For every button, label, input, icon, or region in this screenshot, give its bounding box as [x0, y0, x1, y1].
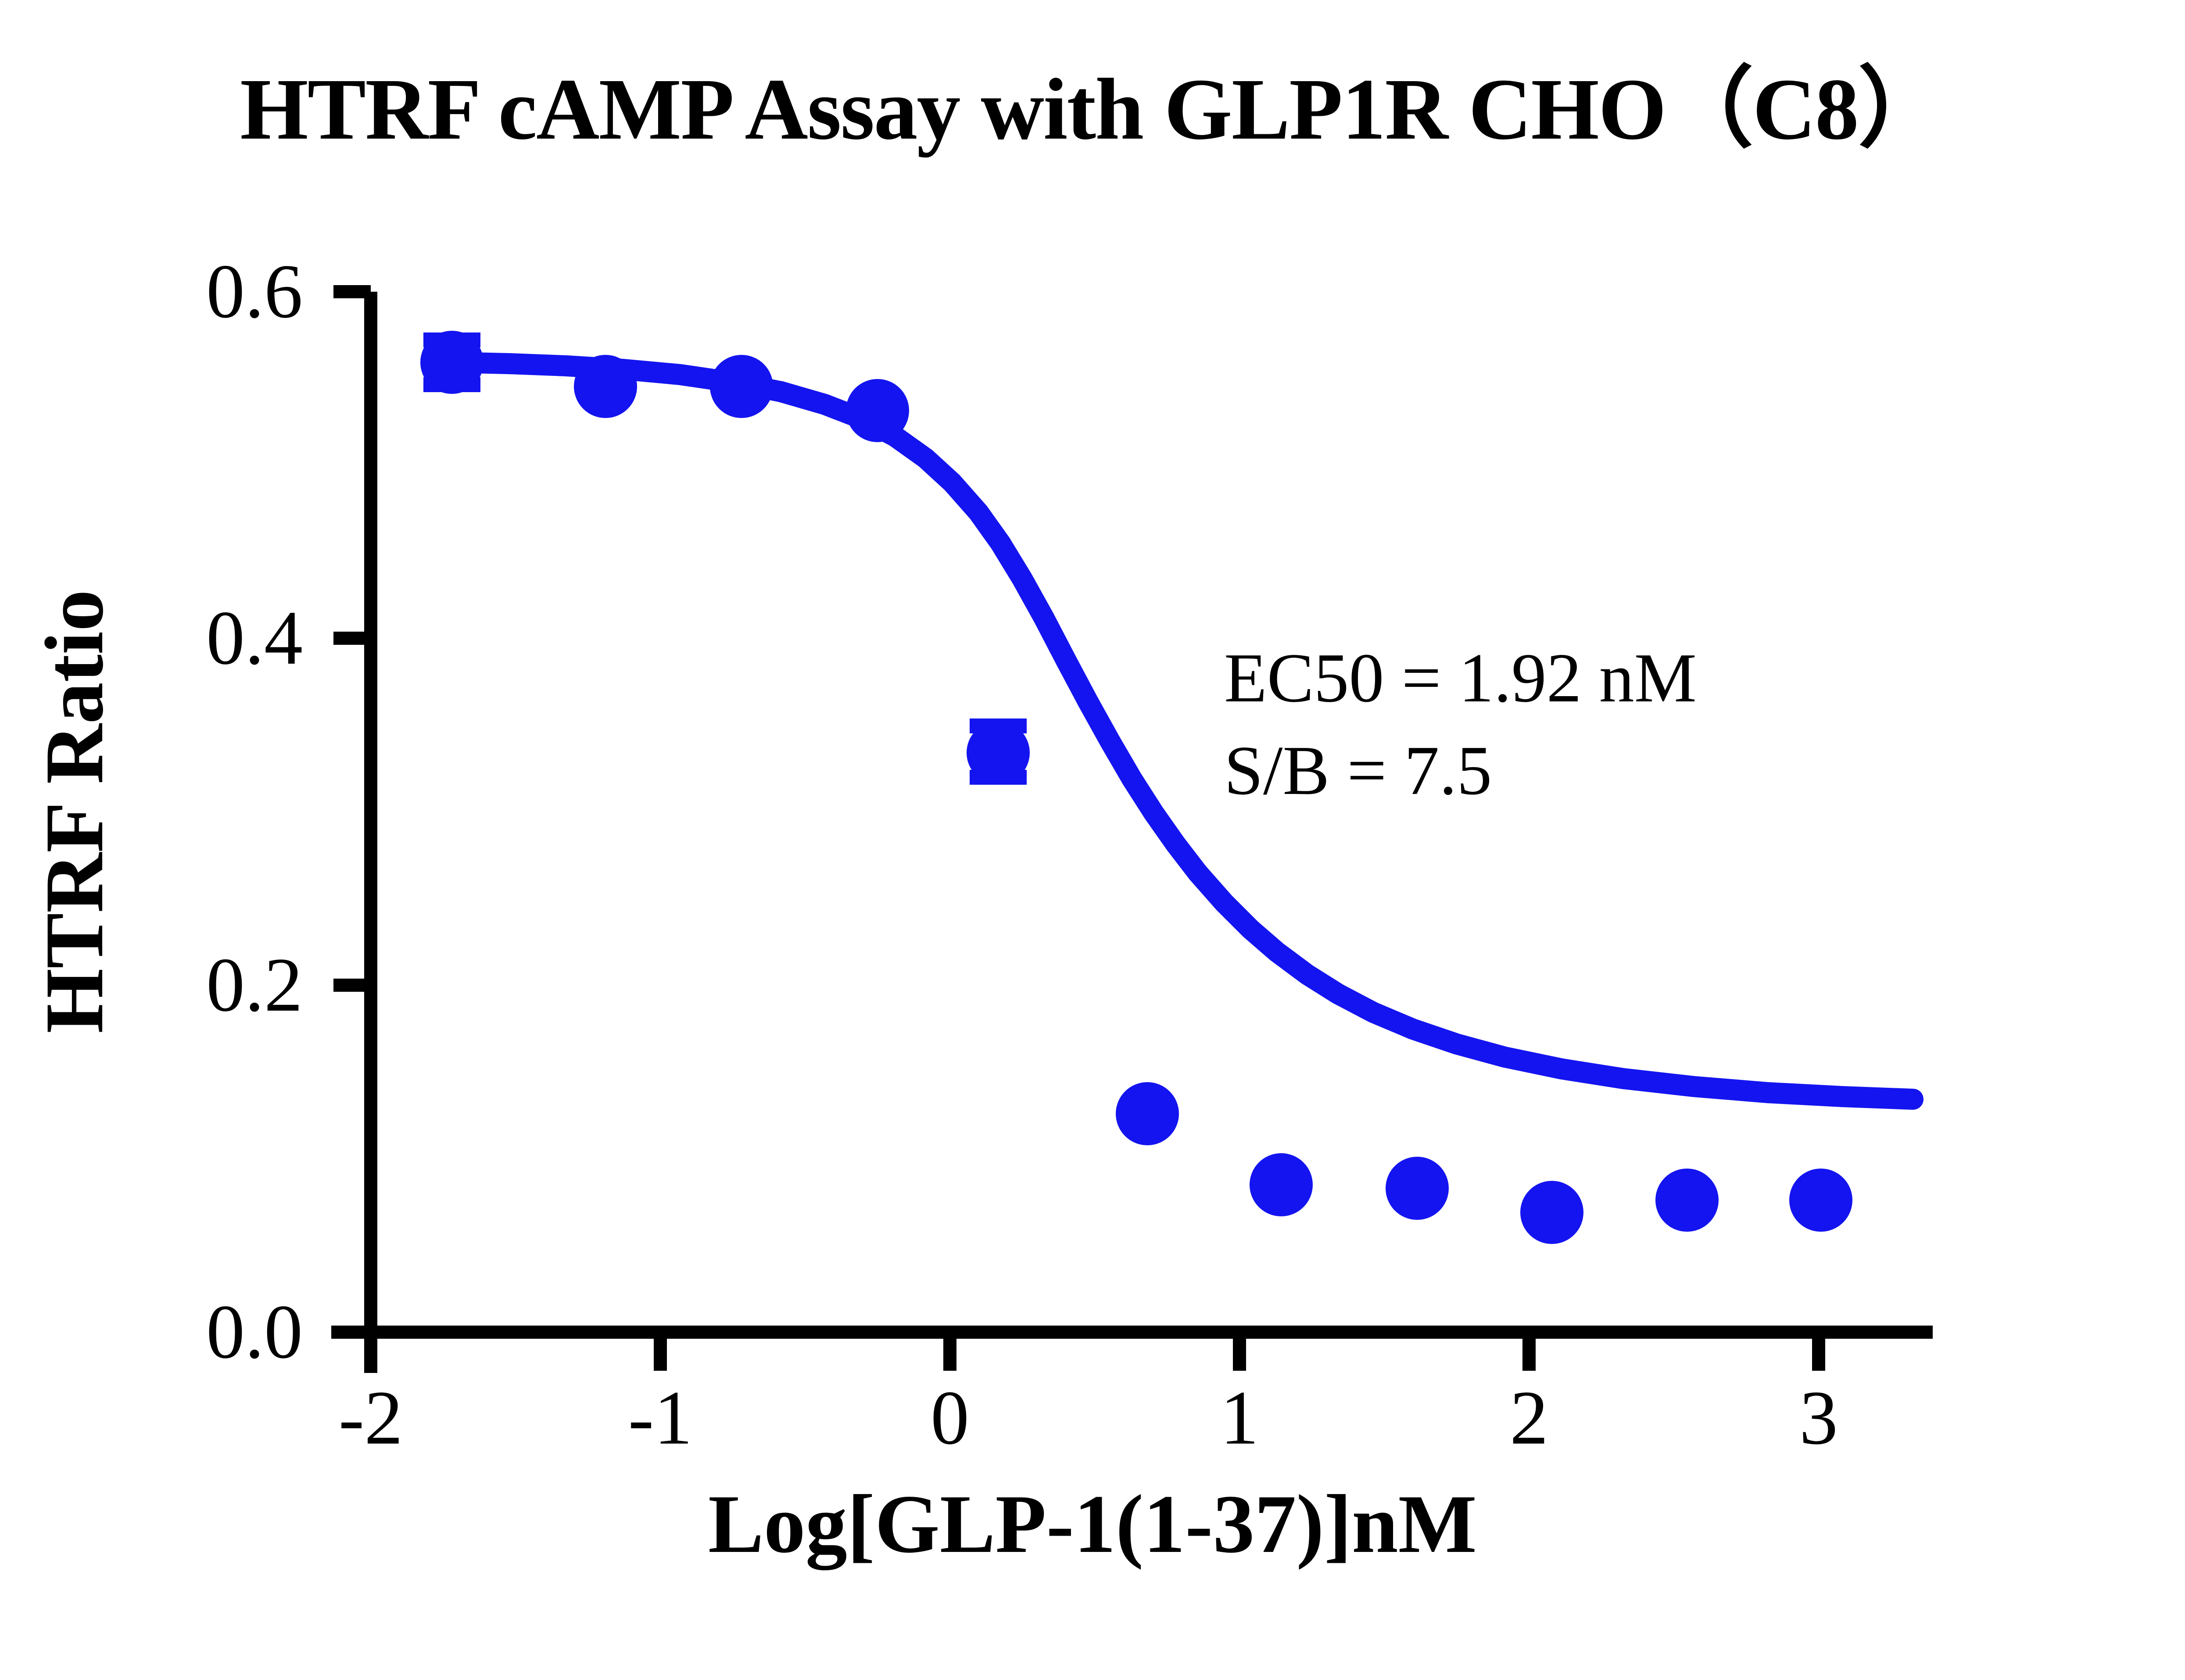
- data-point: [1250, 1153, 1313, 1216]
- x-tick-label-4: 2: [1510, 1380, 1548, 1457]
- ec50-annotation: EC50 = 1.92 nM: [1224, 632, 1697, 724]
- sb-annotation: S/B = 7.5: [1224, 724, 1697, 817]
- chart-figure: HTRF cAMP Assay with GLP1R CHO（C8）: [0, 0, 2185, 1680]
- data-point: [1386, 1157, 1449, 1220]
- y-tick-label-1: 0.4: [114, 600, 303, 677]
- x-axis-title: Log[GLP-1(1-37)]nM: [0, 1483, 2185, 1566]
- data-point: [710, 355, 773, 418]
- data-point: [420, 331, 484, 394]
- x-tick-label-2: 0: [931, 1380, 969, 1457]
- data-point: [846, 379, 909, 442]
- y-tick-label-3: 0.0: [114, 1294, 303, 1371]
- y-tick-label-2: 0.2: [114, 947, 303, 1024]
- data-point: [1116, 1082, 1179, 1145]
- x-tick-label-3: 1: [1220, 1380, 1259, 1457]
- x-tick-label-0: -2: [339, 1380, 403, 1457]
- x-tick-label-1: -1: [628, 1380, 693, 1457]
- data-point: [967, 721, 1030, 784]
- annotation-block: EC50 = 1.92 nM S/B = 7.5: [1224, 632, 1697, 817]
- y-tick-label-0: 0.6: [114, 253, 303, 330]
- data-point: [1520, 1181, 1583, 1244]
- x-tick-label-5: 3: [1799, 1380, 1838, 1457]
- y-axis-title: HTRF Ratio: [33, 548, 116, 1075]
- data-point: [574, 355, 637, 418]
- plot-area: [0, 0, 2185, 1680]
- data-point: [1655, 1169, 1719, 1232]
- data-point: [1789, 1169, 1852, 1232]
